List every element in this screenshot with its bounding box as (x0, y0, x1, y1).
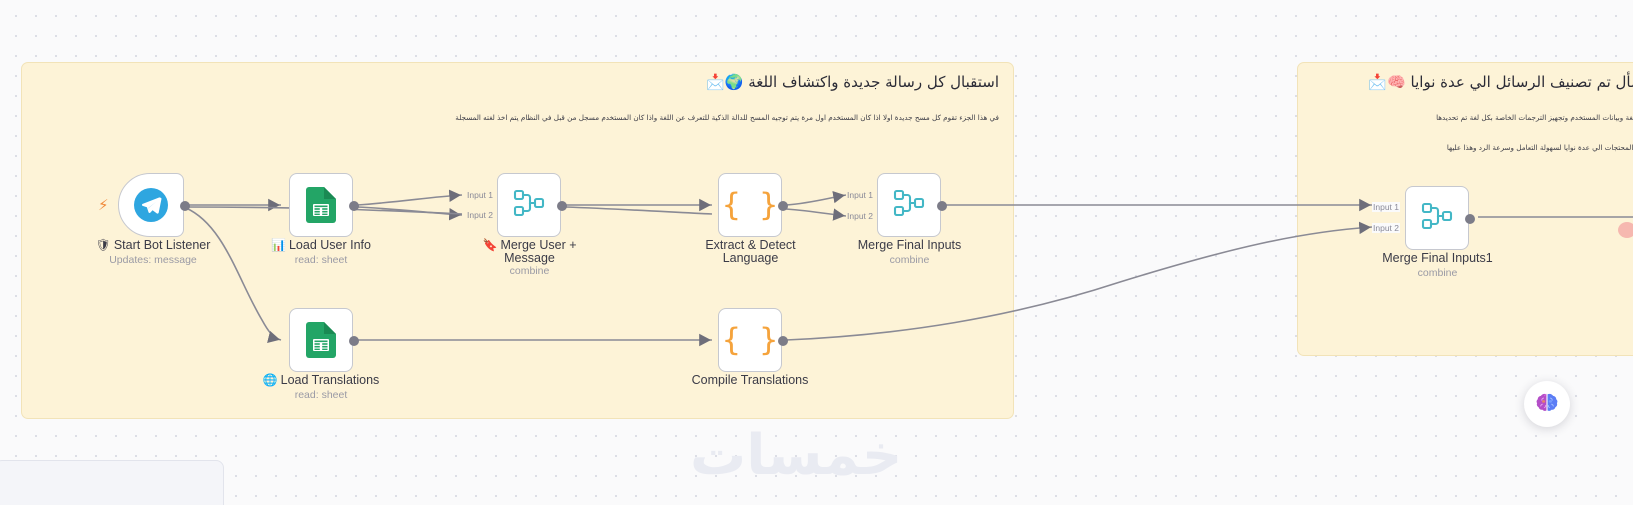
node-title-compile-translations: Compile Translations (692, 374, 809, 387)
workflow-canvas[interactable]: خمسات استقبال كل رسالة جديدة واكتشاف الل… (0, 0, 1633, 505)
node-subtitle-merge-user-message: combine (462, 265, 597, 277)
node-label-start-bot-listener: 🛡Start Bot Listener (78, 239, 228, 252)
output-port-merge-final-inputs1[interactable] (1465, 214, 1475, 224)
node-label-compile-translations: Compile Translations (680, 374, 820, 387)
node-label-extract-detect-language: Extract & Detect Language (683, 239, 818, 265)
port-label-merge-input2: Input 2 (466, 210, 494, 220)
code-braces-icon: { } (722, 325, 778, 356)
lightning-bolt-icon: ⚡ (98, 198, 109, 213)
merge-icon (513, 188, 545, 223)
output-port-merge-final-inputs[interactable] (937, 201, 947, 211)
node-subtitle-load-user-info: read: sheet (246, 254, 396, 266)
node-title-extract-line2: Language (723, 252, 779, 265)
node-title-merge-final-inputs1: Merge Final Inputs1 (1382, 252, 1492, 265)
merge-icon (893, 188, 925, 223)
brain-icon (1534, 391, 1560, 417)
node-title-extract-line1: Extract & Detect (705, 239, 795, 252)
ai-assistant-button[interactable] (1524, 381, 1570, 427)
node-label-load-translations: 🌐Load Translations (246, 374, 396, 387)
node-subtitle-merge-final-inputs: combine (842, 254, 977, 266)
globe-icon: 🌐 (263, 374, 278, 387)
output-port-extract-detect-language[interactable] (778, 201, 788, 211)
node-label-merge-user-message: 🔖Merge User + Message (462, 239, 597, 265)
google-sheets-icon (306, 322, 336, 358)
shield-icon: 🛡 (96, 239, 111, 252)
edge-extract-to-mergefinal-input2 (786, 209, 846, 216)
output-port-load-translations[interactable] (349, 336, 359, 346)
node-merge-user-message[interactable] (497, 173, 561, 237)
node-compile-translations[interactable]: { } (718, 308, 782, 372)
node-start-bot-listener[interactable] (118, 173, 184, 237)
node-title-start-bot-listener: Start Bot Listener (114, 239, 211, 252)
partial-node-icon-right-edge (1618, 222, 1633, 238)
node-title-merge-final-inputs: Merge Final Inputs (858, 239, 962, 252)
node-load-user-info[interactable] (289, 173, 353, 237)
bottom-left-panel[interactable] (0, 460, 224, 505)
port-label-mergefinal-input2: Input 2 (846, 211, 874, 221)
code-braces-icon: { } (722, 190, 778, 221)
port-label-mergefinal-input1: Input 1 (846, 190, 874, 200)
output-port-merge-user-message[interactable] (557, 201, 567, 211)
node-title-merge-user-message-line1: Merge User + (500, 239, 576, 252)
chart-icon: 📊 (271, 239, 286, 252)
telegram-icon (134, 188, 168, 222)
output-port-compile-translations[interactable] (778, 336, 788, 346)
node-title-merge-user-message-line2: Message (504, 252, 555, 265)
node-subtitle-load-translations: read: sheet (246, 389, 396, 401)
port-label-merge-input1: Input 1 (466, 190, 494, 200)
node-label-merge-final-inputs: Merge Final Inputs (842, 239, 977, 252)
edge-merge-to-extract-2 (566, 207, 712, 214)
node-label-load-user-info: 📊Load User Info (246, 239, 396, 252)
port-label-mergefinal1-input2: Input 2 (1372, 223, 1400, 233)
node-extract-detect-language[interactable]: { } (718, 173, 782, 237)
port-label-mergefinal1-input1: Input 1 (1372, 202, 1400, 212)
output-port-start-bot-listener[interactable] (180, 201, 190, 211)
edge-start-to-loadtranslations (186, 208, 281, 340)
edge-extract-to-mergefinal-input1 (786, 195, 846, 205)
node-title-load-translations: Load Translations (281, 374, 380, 387)
output-port-load-user-info[interactable] (349, 201, 359, 211)
pin-icon: 🔖 (482, 239, 497, 252)
node-title-load-user-info: Load User Info (289, 239, 371, 252)
node-label-merge-final-inputs1: Merge Final Inputs1 (1370, 252, 1505, 265)
node-subtitle-start-bot-listener: Updates: message (78, 254, 228, 266)
google-sheets-icon (306, 187, 336, 223)
edge-loaduser-to-merge-input1 (357, 195, 462, 205)
node-load-translations[interactable] (289, 308, 353, 372)
node-subtitle-merge-final-inputs1: combine (1370, 267, 1505, 279)
merge-icon (1421, 201, 1453, 236)
node-merge-final-inputs[interactable] (877, 173, 941, 237)
node-merge-final-inputs1[interactable] (1405, 186, 1469, 250)
